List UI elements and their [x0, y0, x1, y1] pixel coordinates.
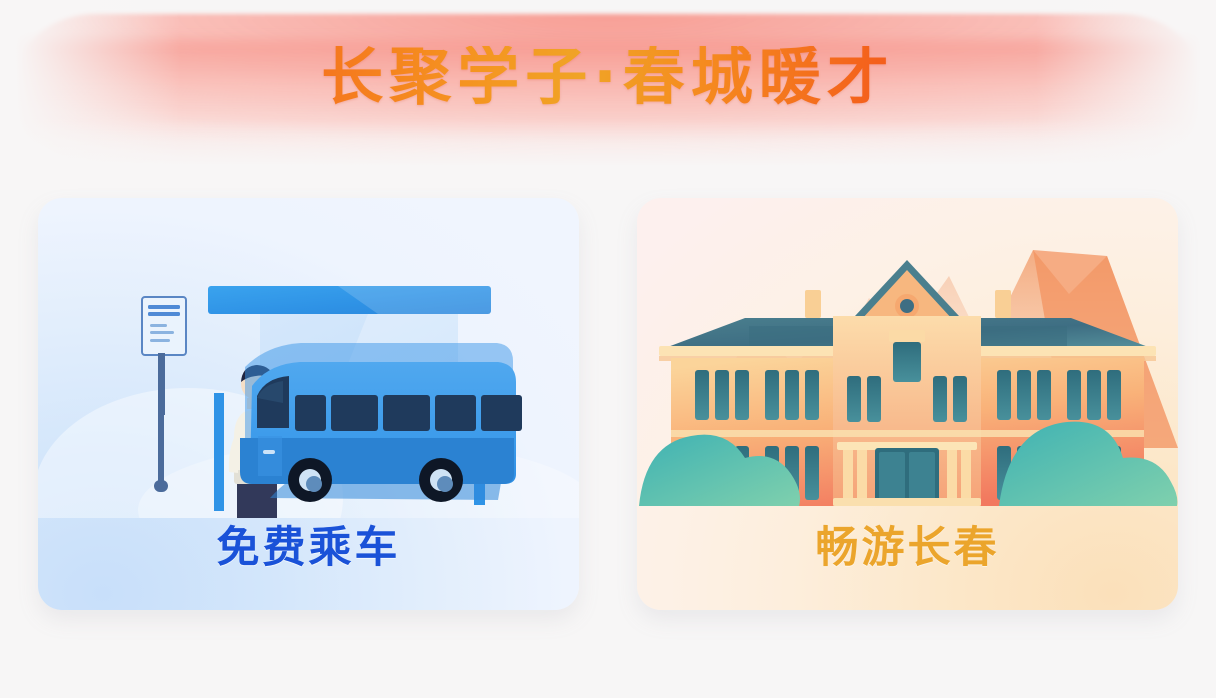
header-banner: 长聚学子·春城暖才 [0, 0, 1216, 190]
historic-building-illustration [637, 198, 1178, 518]
card-grid: 免费乘车 [38, 198, 1178, 610]
card-label-tour-changchun: 畅游长春 [637, 527, 1178, 570]
bus-stop-illustration [38, 198, 579, 518]
city-bus-icon [240, 343, 522, 502]
page-title: 长聚学子·春城暖才 [0, 46, 1216, 108]
card-tour-changchun[interactable]: 畅游长春 [637, 198, 1178, 610]
card-free-bus-ride[interactable]: 免费乘车 [38, 198, 579, 610]
card-label-free-bus-ride: 免费乘车 [38, 527, 579, 570]
banner-fade-bottom [0, 120, 1216, 190]
